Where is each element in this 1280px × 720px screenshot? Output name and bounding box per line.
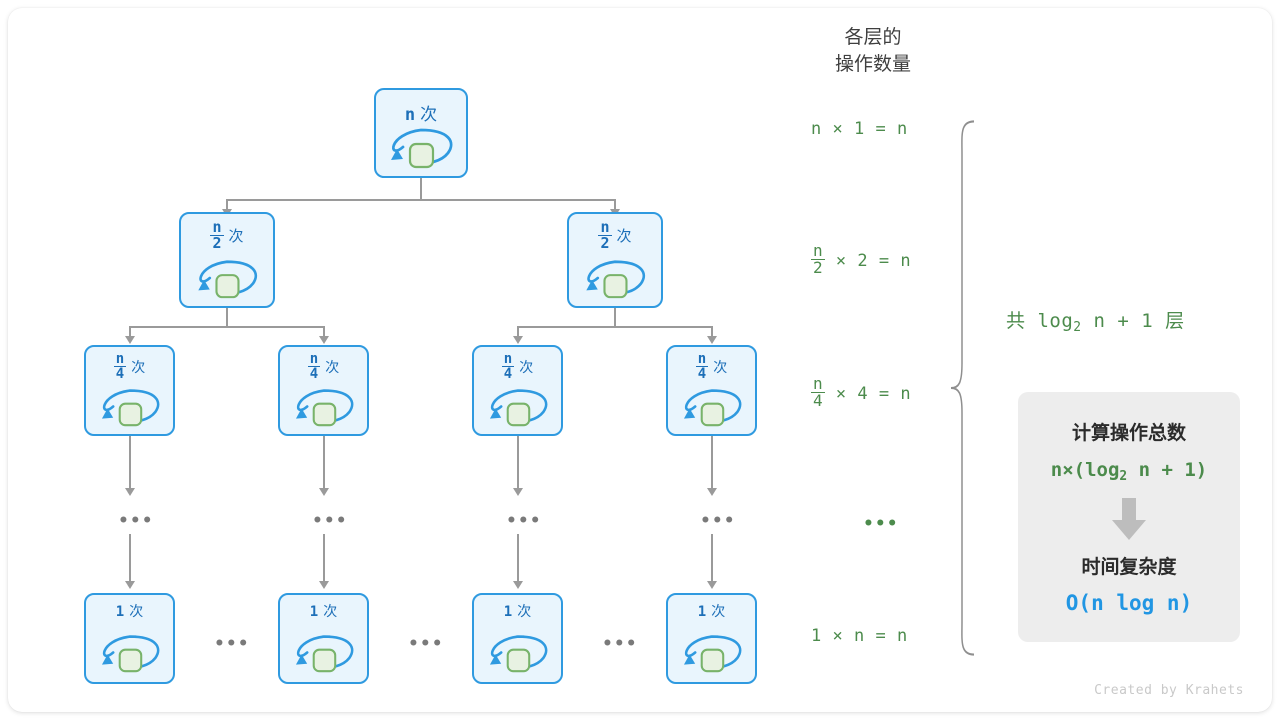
- arrow-l3-2: [319, 336, 329, 344]
- summary-complexity-title: 时间复杂度: [1018, 552, 1240, 579]
- op-eq: =: [876, 119, 887, 139]
- levels-label-suffix: n + 1 层: [1082, 310, 1185, 332]
- node-count: 1: [698, 604, 706, 620]
- tree-node-last-4[interactable]: 1次: [666, 593, 757, 684]
- tree-node-level3-3[interactable]: n4次: [472, 345, 563, 436]
- op-result: n: [900, 251, 911, 271]
- operation-row-1: n × 1 = n: [811, 119, 908, 139]
- tree-node-level3-1[interactable]: n4次: [84, 345, 175, 436]
- op-eq: =: [879, 384, 890, 404]
- summary-total-suffix: n + 1): [1127, 459, 1207, 481]
- loop-icon: [190, 256, 264, 304]
- loop-icon: [288, 385, 360, 432]
- tree-node-level2-1[interactable]: n2次: [179, 212, 275, 308]
- node-label: n4次: [280, 353, 367, 383]
- node-unit: 次: [323, 604, 337, 620]
- arrow-l3-3: [513, 336, 523, 344]
- levels-label-sub: 2: [1073, 320, 1081, 335]
- operations-column-heading: 各层的 操作数量: [798, 24, 948, 78]
- tree-node-last-1[interactable]: 1次: [84, 593, 175, 684]
- loop-icon: [482, 385, 554, 432]
- edge-dots-3-down: [517, 534, 519, 584]
- op-numer: 1: [811, 626, 822, 646]
- down-arrow-icon: [1018, 498, 1240, 542]
- operation-row-4: 1 × n = n: [811, 626, 908, 646]
- tree-node-level2-2[interactable]: n2次: [567, 212, 663, 308]
- bottom-ellipsis-3: •••: [602, 634, 638, 654]
- node-unit: 次: [517, 604, 531, 620]
- loop-icon: [383, 124, 459, 174]
- op-times: ×: [833, 119, 844, 139]
- edge-dots-4-down: [711, 534, 713, 584]
- arrow-bottom-4: [707, 581, 717, 589]
- node-count-fraction: n2: [598, 220, 611, 252]
- edge-l3-3-down: [517, 436, 519, 491]
- op-result: n: [900, 384, 911, 404]
- edge-l2a-stem: [226, 308, 228, 327]
- edge-root-stem: [420, 178, 422, 200]
- summary-panel: 计算操作总数 n×(log2 n + 1) 时间复杂度 O(n log n): [1018, 392, 1240, 642]
- node-label: 1次: [668, 601, 755, 621]
- node-label: n2次: [569, 221, 661, 253]
- node-unit: 次: [129, 604, 143, 620]
- credit-text: Created by Krahets: [1094, 683, 1244, 698]
- heading-line-2: 操作数量: [798, 51, 948, 78]
- arrow-dots-3: [513, 488, 523, 496]
- tree-node-level3-4[interactable]: n4次: [666, 345, 757, 436]
- arrow-dots-1: [125, 488, 135, 496]
- tree-node-level1-1[interactable]: n次: [374, 88, 468, 178]
- arrow-dots-2: [319, 488, 329, 496]
- heading-line-1: 各层的: [798, 24, 948, 51]
- node-label: 1次: [474, 601, 561, 621]
- node-unit: 次: [519, 360, 533, 376]
- node-count: 1: [116, 604, 124, 620]
- node-count-fraction: n4: [502, 352, 514, 382]
- node-label: n4次: [668, 353, 755, 383]
- op-times: ×: [836, 251, 847, 271]
- edge-l3-1-down: [129, 436, 131, 491]
- op-numer-fraction: n4: [811, 376, 825, 410]
- summary-total-title: 计算操作总数: [1018, 418, 1240, 445]
- op-factor: 2: [857, 251, 868, 271]
- arrow-l3-4: [707, 336, 717, 344]
- edge-l2b-stem: [614, 308, 616, 327]
- tree-node-last-2[interactable]: 1次: [278, 593, 369, 684]
- edge-root-bus: [227, 199, 616, 201]
- op-eq: =: [879, 251, 890, 271]
- op-eq: =: [876, 626, 887, 646]
- operation-row-2: n2 × 2 = n: [811, 244, 911, 278]
- op-result: n: [897, 626, 908, 646]
- tree-node-level3-2[interactable]: n4次: [278, 345, 369, 436]
- loop-icon: [578, 256, 652, 304]
- tree-node-last-3[interactable]: 1次: [472, 593, 563, 684]
- summary-total-prefix: n×(log: [1051, 459, 1120, 481]
- op-numer: n: [811, 119, 822, 139]
- edge-l3-2-down: [323, 436, 325, 491]
- loop-icon: [676, 631, 748, 678]
- summary-total-formula: n×(log2 n + 1): [1018, 459, 1240, 484]
- node-count-fraction: n4: [308, 352, 320, 382]
- edge-l3-4-down: [711, 436, 713, 491]
- tree-ellipsis-1: •••: [118, 511, 154, 531]
- node-count-fraction: n4: [696, 352, 708, 382]
- node-unit: 次: [713, 360, 727, 376]
- summary-total-sub: 2: [1119, 469, 1127, 484]
- tree-ellipsis-2: •••: [312, 511, 348, 531]
- operation-row-3: n4 × 4 = n: [811, 377, 911, 411]
- loop-icon: [94, 631, 166, 678]
- node-count: n: [405, 105, 415, 125]
- levels-label-prefix: 共 log: [1006, 310, 1073, 332]
- arrow-bottom-2: [319, 581, 329, 589]
- node-count: 1: [504, 604, 512, 620]
- loop-icon: [94, 385, 166, 432]
- operation-ellipsis: •••: [863, 514, 899, 534]
- node-unit: 次: [711, 604, 725, 620]
- op-result: n: [897, 119, 908, 139]
- node-count-fraction: n2: [210, 220, 223, 252]
- node-unit: 次: [325, 360, 339, 376]
- edge-dots-1-down: [129, 534, 131, 584]
- op-factor: 1: [854, 119, 865, 139]
- edge-dots-2-down: [323, 534, 325, 584]
- node-unit: 次: [420, 105, 437, 125]
- loop-icon: [482, 631, 554, 678]
- levels-label: 共 log2 n + 1 层: [1006, 306, 1185, 335]
- node-label: n4次: [86, 353, 173, 383]
- node-label: 1次: [86, 601, 173, 621]
- edge-l2a-bus: [130, 326, 324, 328]
- node-label: n4次: [474, 353, 561, 383]
- node-count-fraction: n4: [114, 352, 126, 382]
- tree-ellipsis-4: •••: [700, 511, 736, 531]
- arrow-dots-4: [707, 488, 717, 496]
- arrow-bottom-3: [513, 581, 523, 589]
- op-factor: 4: [857, 384, 868, 404]
- bottom-ellipsis-1: •••: [214, 634, 250, 654]
- node-label: 1次: [280, 601, 367, 621]
- node-label: n2次: [181, 221, 273, 253]
- node-unit: 次: [131, 360, 145, 376]
- node-unit: 次: [229, 227, 244, 245]
- op-times: ×: [833, 626, 844, 646]
- loop-icon: [288, 631, 360, 678]
- op-factor: n: [854, 626, 865, 646]
- diagram-card: 各层的 操作数量 ••• ••• ••• ••• ••• ••• •••: [8, 8, 1272, 712]
- op-numer-fraction: n2: [811, 243, 825, 277]
- loop-icon: [676, 385, 748, 432]
- levels-brace: [946, 116, 986, 665]
- arrow-bottom-1: [125, 581, 135, 589]
- op-times: ×: [836, 384, 847, 404]
- tree-ellipsis-3: •••: [506, 511, 542, 531]
- node-count: 1: [310, 604, 318, 620]
- node-unit: 次: [617, 227, 632, 245]
- summary-complexity-value: O(n log n): [1018, 591, 1240, 615]
- edge-l2b-bus: [518, 326, 712, 328]
- arrow-l3-1: [125, 336, 135, 344]
- node-label: n次: [376, 100, 466, 125]
- bottom-ellipsis-2: •••: [408, 634, 444, 654]
